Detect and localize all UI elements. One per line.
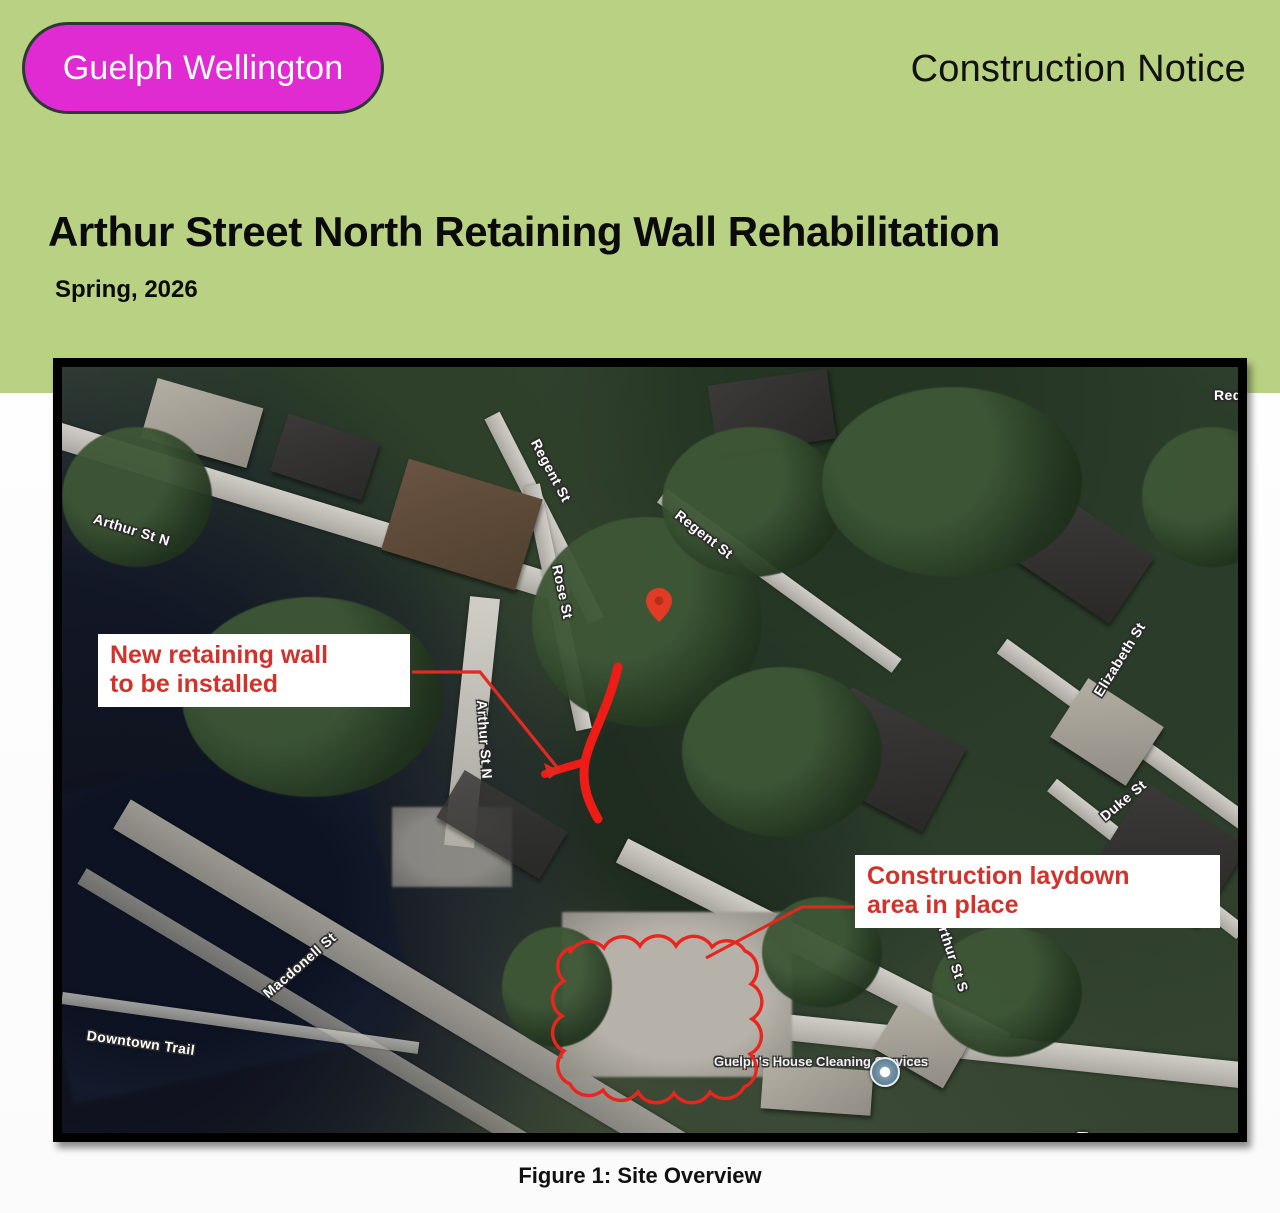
header-band: Guelph Wellington Construction Notice Ar… xyxy=(0,0,1280,393)
tree-canopy xyxy=(932,927,1082,1057)
map-pin-icon[interactable] xyxy=(646,588,672,622)
tree-canopy xyxy=(62,427,212,567)
building xyxy=(761,1063,874,1116)
aerial-map[interactable]: Arthur St N Regent St Regent St Rose St … xyxy=(62,367,1238,1133)
page-subtitle: Spring, 2026 xyxy=(55,276,198,304)
poi-marker-icon[interactable] xyxy=(870,1057,900,1087)
brand-label: Guelph Wellington xyxy=(63,49,344,88)
brand-pill[interactable]: Guelph Wellington xyxy=(22,22,384,114)
poi-label-guelphs-house-cleaning: Guelph's House Cleaning Services xyxy=(714,1055,894,1070)
figure-caption: Figure 1: Site Overview xyxy=(0,1163,1280,1189)
construction-notice-page: { "header": { "brand_label": "Guelph Wel… xyxy=(0,0,1280,1213)
tree-canopy xyxy=(662,427,842,577)
site-overview-figure: Arthur St N Regent St Regent St Rose St … xyxy=(53,358,1247,1142)
annotation-construction-laydown: Construction laydown area in place xyxy=(855,855,1220,928)
page-title: Arthur Street North Retaining Wall Rehab… xyxy=(48,208,1000,256)
tree-canopy xyxy=(502,927,612,1047)
tree-canopy xyxy=(682,667,882,837)
annotation-new-retaining-wall: New retaining wall to be installed xyxy=(98,634,410,707)
map-frame: Arthur St N Regent St Regent St Rose St … xyxy=(53,358,1247,1142)
notice-type-label: Construction Notice xyxy=(911,48,1246,91)
tree-canopy xyxy=(822,387,1082,577)
